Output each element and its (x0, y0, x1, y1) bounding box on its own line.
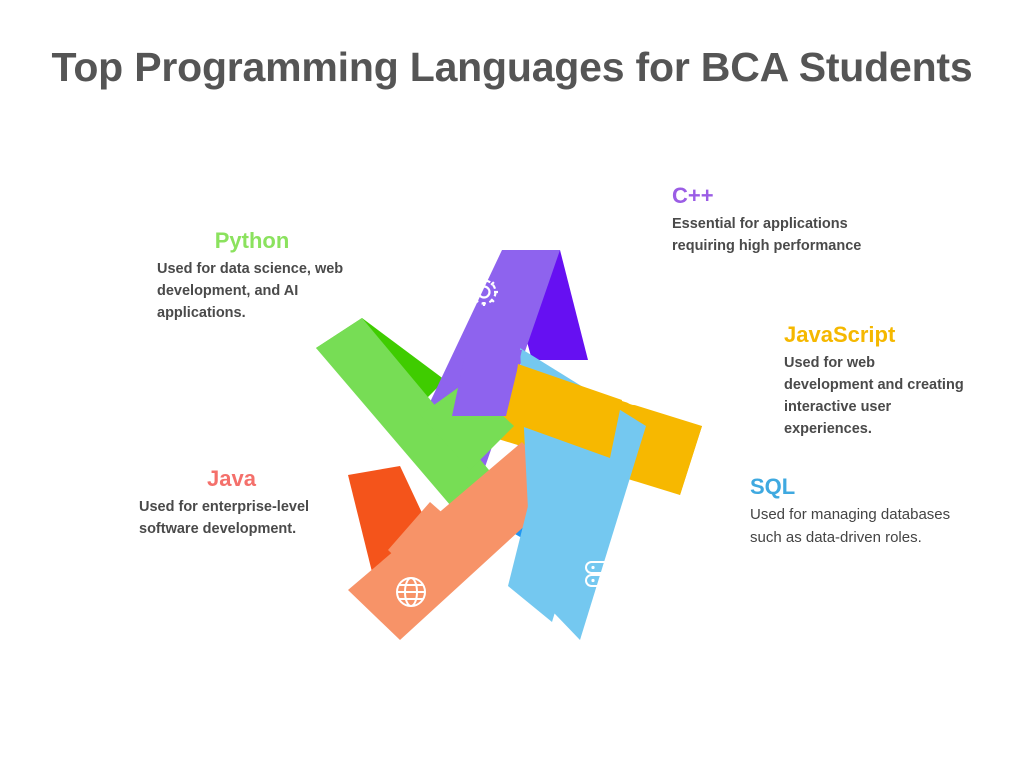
lang-name-cpp: C++ (672, 183, 902, 209)
lang-name-javascript: JavaScript (784, 322, 964, 348)
lang-desc-java: Used for enterprise-level software devel… (139, 496, 324, 540)
lang-name-java: Java (139, 466, 324, 492)
lang-name-sql: SQL (750, 474, 955, 500)
label-block-javascript: JavaScript Used for web development and … (784, 322, 964, 441)
label-block-python: Python Used for data science, web develo… (157, 228, 347, 324)
label-block-sql: SQL Used for managing databases such as … (750, 474, 955, 550)
lang-name-python: Python (157, 228, 347, 254)
lang-desc-python: Used for data science, web development, … (157, 258, 347, 324)
label-block-cpp: C++ Essential for applications requiring… (672, 183, 902, 257)
lang-desc-cpp: Essential for applications requiring hig… (672, 213, 902, 257)
checklist-icon (310, 393, 336, 425)
lang-desc-javascript: Used for web development and creating in… (784, 352, 964, 440)
label-block-java: Java Used for enterprise-level software … (139, 466, 324, 540)
lang-desc-sql: Used for managing databases such as data… (750, 504, 955, 550)
stopwatch-icon (623, 377, 648, 404)
page-title: Top Programming Languages for BCA Studen… (0, 36, 1024, 100)
